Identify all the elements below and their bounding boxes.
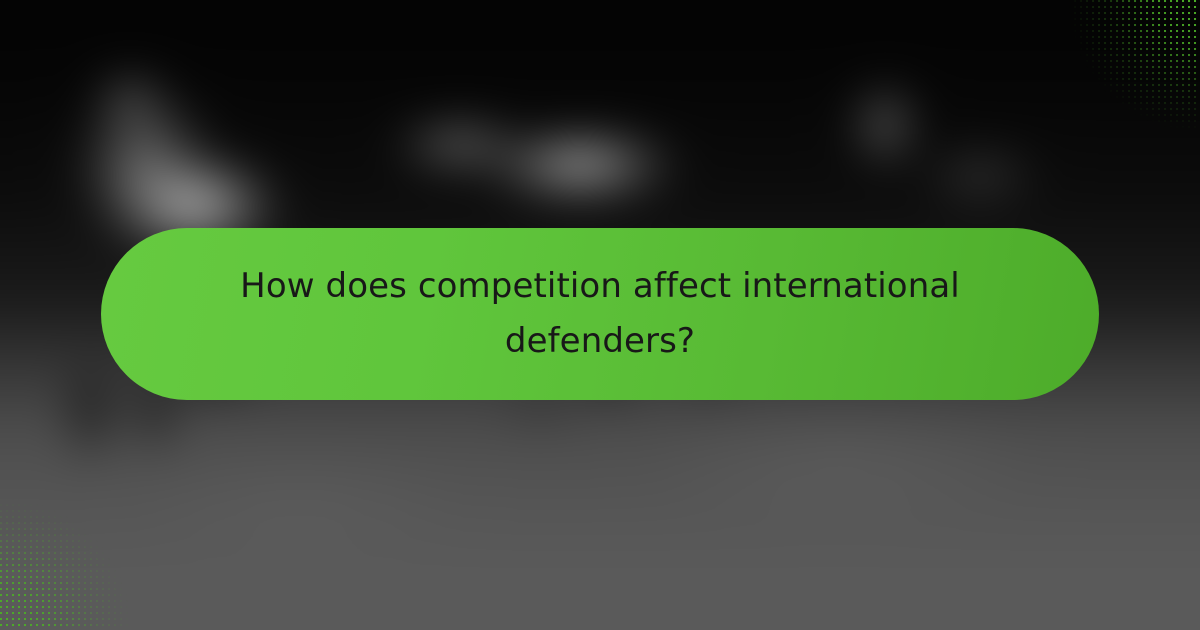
question-banner: How does competition affect internationa… <box>101 228 1099 400</box>
question-card: How does competition affect internationa… <box>0 0 1200 630</box>
question-text: How does competition affect internationa… <box>171 259 1029 369</box>
